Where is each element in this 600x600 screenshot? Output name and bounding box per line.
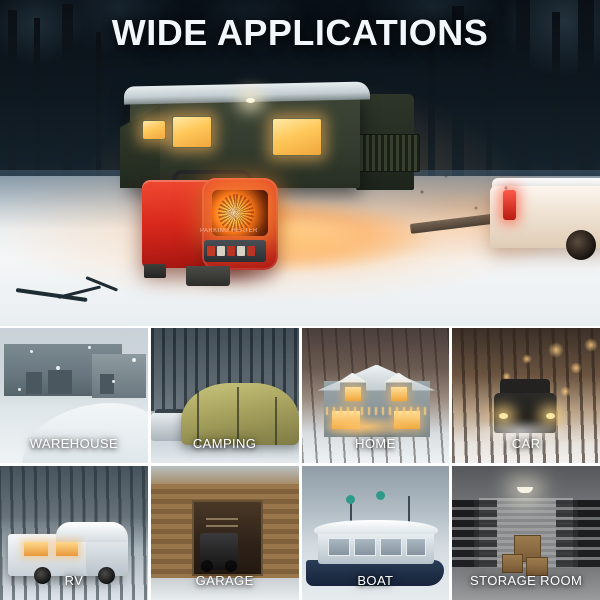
- boat-snow-cover: [314, 520, 438, 534]
- tile-label: RV: [0, 573, 148, 588]
- application-tile-boat[interactable]: BOAT: [302, 466, 450, 600]
- heater-button: [207, 246, 215, 256]
- boat-window: [354, 538, 376, 556]
- warehouse-door: [26, 372, 42, 394]
- cardboard-box: [502, 554, 523, 573]
- tile-label: STORAGE ROOM: [452, 573, 600, 588]
- heater-button: [247, 246, 255, 256]
- porch-glow: [322, 411, 432, 437]
- camper-window-small: [142, 120, 166, 140]
- heater-mounting-foot: [144, 264, 166, 278]
- boat-navigation-light: [376, 491, 385, 500]
- tile-label: GARAGE: [151, 573, 299, 588]
- house-window: [391, 387, 407, 401]
- snowflake: [18, 388, 21, 391]
- applications-grid: WAREHOUSE CAMPING: [0, 328, 600, 600]
- application-tile-camping[interactable]: CAMPING: [151, 328, 299, 463]
- application-tile-rv[interactable]: RV: [0, 466, 148, 600]
- warehouse-door: [100, 374, 114, 394]
- snowflake: [88, 346, 91, 349]
- boat-window: [380, 538, 402, 556]
- snow-drift: [22, 403, 148, 463]
- application-tile-home[interactable]: HOME: [302, 328, 450, 463]
- heater-button: [237, 246, 245, 256]
- tile-label: BOAT: [302, 573, 450, 588]
- boat-window: [328, 538, 350, 556]
- camper-exterior-lamp: [246, 98, 255, 103]
- application-tile-warehouse[interactable]: WAREHOUSE: [0, 328, 148, 463]
- camper-window-front: [172, 116, 212, 148]
- application-tile-storage-room[interactable]: STORAGE ROOM: [452, 466, 600, 600]
- snow-debris-spray: [410, 160, 530, 240]
- garage-shelf: [206, 525, 238, 527]
- application-tile-car[interactable]: CAR: [452, 328, 600, 463]
- truck-wheel: [566, 230, 596, 260]
- tile-label: HOME: [302, 436, 450, 451]
- house-window: [345, 387, 361, 401]
- heater-button: [227, 246, 235, 256]
- heater-mounting-foot: [186, 266, 230, 286]
- warehouse-door: [48, 370, 72, 394]
- snowflake: [112, 380, 115, 383]
- tile-label: CAR: [452, 436, 600, 451]
- wide-applications-infographic: PARKING HEATER WIDE APPLICATIONS: [0, 0, 600, 600]
- hero-banner: PARKING HEATER WIDE APPLICATIONS: [0, 0, 600, 326]
- snowflake: [56, 366, 60, 370]
- boat-window: [406, 538, 426, 556]
- heater-button: [217, 246, 225, 256]
- application-tile-garage[interactable]: GARAGE: [151, 466, 299, 600]
- snowflake: [132, 358, 136, 362]
- garage-shelf: [206, 518, 238, 520]
- heater-brand-text: PARKING HEATER: [200, 228, 260, 237]
- snowflake: [30, 350, 33, 353]
- motorhome-window: [56, 542, 78, 556]
- atv-vehicle: [200, 533, 238, 571]
- atv-wheel: [201, 560, 213, 572]
- diesel-air-heater-product: PARKING HEATER: [142, 170, 282, 288]
- storage-ceiling: [452, 466, 600, 501]
- page-title: WIDE APPLICATIONS: [0, 12, 600, 54]
- tile-label: WAREHOUSE: [0, 436, 148, 451]
- tile-label: CAMPING: [151, 436, 299, 451]
- heater-control-panel: [204, 240, 266, 262]
- boat-navigation-light: [346, 495, 355, 504]
- motorhome-window: [24, 542, 48, 556]
- camper-window-large: [272, 118, 322, 156]
- motorhome-overcab-snow: [56, 522, 128, 542]
